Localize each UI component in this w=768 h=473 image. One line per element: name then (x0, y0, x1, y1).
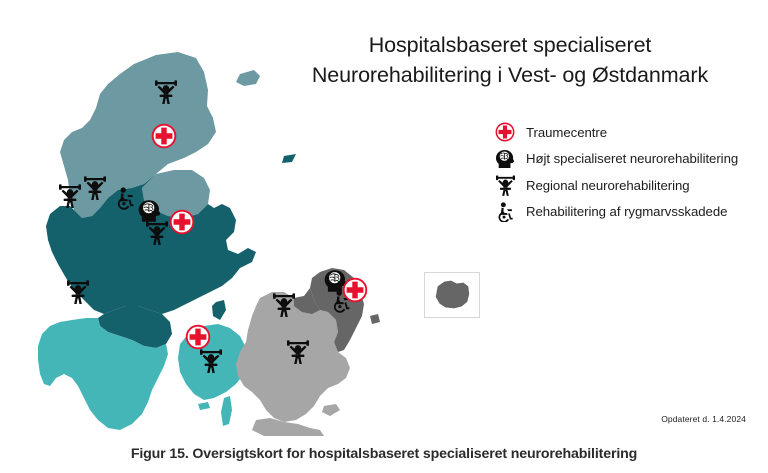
marker-traumecentre-odense[interactable] (185, 324, 211, 350)
island-hven (370, 314, 380, 324)
brain-head-icon (492, 147, 518, 171)
legend-label-regional: Regional neurorehabilitering (526, 178, 690, 193)
figure-caption: Figur 15. Oversigtskort for hospitalsbas… (0, 446, 768, 462)
person-raised-arms-icon (492, 173, 518, 197)
marker-regional-holstebro[interactable] (59, 184, 81, 208)
legend-item-traumecentre[interactable]: Traumecentre (492, 120, 754, 144)
updated-note: Opdateret d. 1.4.2024 (661, 414, 746, 424)
legend-item-hojt-specialiseret[interactable]: Højt specialiseret neurorehabilitering (492, 147, 754, 171)
legend-label-hojt-specialiseret: Højt specialiseret neurorehabilitering (526, 151, 738, 166)
marker-regional-sydjylland[interactable] (67, 280, 89, 304)
island-moen (322, 404, 340, 416)
marker-traumecentre-aalborg[interactable] (151, 123, 177, 149)
island-laesoe (236, 70, 260, 86)
wheelchair-icon (492, 200, 518, 224)
legend-item-rygmarvsskadede[interactable]: Rehabilitering af rygmarvsskadede (492, 200, 754, 224)
island-langeland (221, 396, 232, 426)
marker-wheelchair-midtjylland[interactable] (114, 187, 136, 209)
marker-regional-fyn[interactable] (200, 349, 222, 373)
marker-regional-sjaelland-nord[interactable] (273, 293, 295, 317)
figure-container: Hospitalsbaseret specialiseret Neuroreha… (0, 0, 768, 473)
red-cross-circle-icon (492, 120, 518, 144)
bornholm-inset-box (424, 272, 480, 318)
marker-traumecentre-aarhus[interactable] (169, 209, 195, 235)
island-anholt (282, 154, 296, 163)
bornholm-shape (436, 281, 469, 309)
legend-item-regional[interactable]: Regional neurorehabilitering (492, 173, 754, 197)
marker-regional-aarhus[interactable] (146, 221, 168, 245)
island-aeroe (198, 402, 210, 410)
marker-traumecentre-koebenhavn[interactable] (342, 277, 368, 303)
marker-regional-viborg[interactable] (84, 176, 106, 200)
legend-label-traumecentre: Traumecentre (526, 125, 607, 140)
marker-regional-sjaelland-syd[interactable] (287, 340, 309, 364)
marker-hojt-specialiseret-hammel[interactable] (138, 200, 163, 223)
legend: Traumecentre (492, 120, 754, 226)
marker-regional-nordjylland[interactable] (155, 80, 177, 104)
legend-label-rygmarvsskadede: Rehabilitering af rygmarvsskadede (526, 204, 727, 219)
denmark-regions-map (8, 48, 432, 436)
island-samsoe (212, 300, 226, 320)
